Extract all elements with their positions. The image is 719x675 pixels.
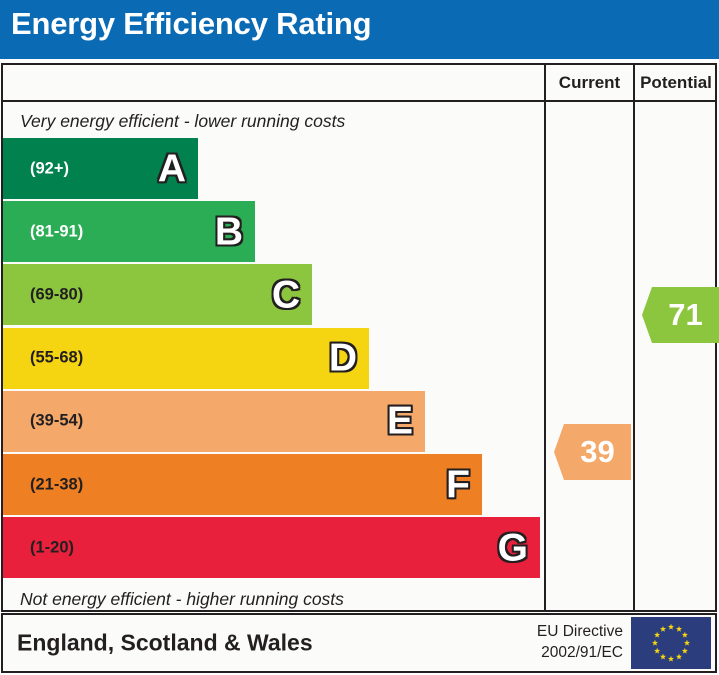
current-rating-marker: 39 bbox=[554, 424, 631, 480]
band-letter: G bbox=[498, 528, 528, 567]
caption-inefficient: Not energy efficient - higher running co… bbox=[20, 589, 344, 610]
directive-line-1: EU Directive bbox=[537, 622, 623, 643]
band-f: (21-38)F bbox=[3, 454, 482, 515]
band-range-label: (55-68) bbox=[30, 349, 83, 368]
table-header-row: Current Potential bbox=[3, 65, 715, 102]
band-a: (92+)A bbox=[3, 138, 198, 199]
caption-efficient: Very energy efficient - lower running co… bbox=[20, 111, 345, 132]
column-divider-current bbox=[544, 102, 546, 610]
column-header-current: Current bbox=[544, 65, 633, 100]
eu-flag-icon bbox=[631, 617, 711, 669]
band-letter: C bbox=[272, 275, 300, 314]
band-letter: B bbox=[215, 212, 243, 251]
column-divider-potential bbox=[633, 102, 635, 610]
band-range-label: (1-20) bbox=[30, 538, 74, 557]
rating-table: Current Potential Very energy efficient … bbox=[1, 63, 717, 612]
footer-bar: England, Scotland & Wales EU Directive 2… bbox=[1, 613, 717, 673]
column-header-potential: Potential bbox=[633, 65, 717, 100]
band-g: (1-20)G bbox=[3, 517, 540, 578]
page-title: Energy Efficiency Rating bbox=[11, 6, 371, 42]
footer-region-label: England, Scotland & Wales bbox=[17, 630, 313, 657]
band-b: (81-91)B bbox=[3, 201, 255, 262]
energy-efficiency-rating-chart: Energy Efficiency Rating Current Potenti… bbox=[0, 0, 719, 675]
band-range-label: (81-91) bbox=[30, 222, 83, 241]
band-d: (55-68)D bbox=[3, 328, 369, 389]
potential-rating-value: 71 bbox=[668, 297, 702, 333]
directive-line-2: 2002/91/EC bbox=[537, 643, 623, 664]
band-range-label: (21-38) bbox=[30, 475, 83, 494]
band-e: (39-54)E bbox=[3, 391, 425, 452]
band-letter: A bbox=[158, 149, 186, 188]
band-range-label: (39-54) bbox=[30, 412, 83, 431]
band-c: (69-80)C bbox=[3, 264, 312, 325]
band-letter: F bbox=[446, 465, 470, 504]
band-letter: D bbox=[329, 339, 357, 378]
potential-rating-marker: 71 bbox=[642, 287, 719, 343]
current-rating-value: 39 bbox=[580, 434, 614, 470]
band-range-label: (92+) bbox=[30, 159, 69, 178]
title-bar: Energy Efficiency Rating bbox=[0, 0, 719, 59]
band-list: (92+)A(81-91)B(69-80)C(55-68)D(39-54)E(2… bbox=[3, 138, 544, 583]
band-range-label: (69-80) bbox=[30, 285, 83, 304]
band-letter: E bbox=[387, 402, 413, 441]
footer-directive: EU Directive 2002/91/EC bbox=[537, 622, 623, 664]
